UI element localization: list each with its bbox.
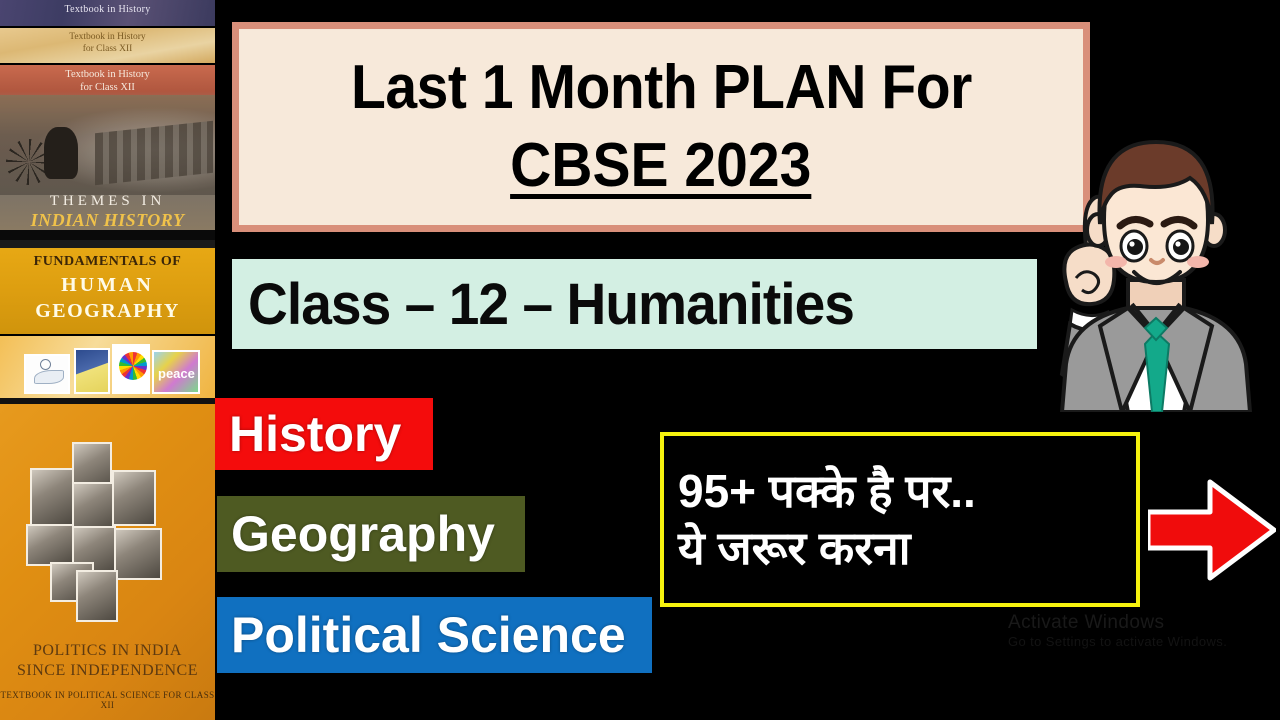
book-cover-politics-in-india: POLITICS IN INDIA SINCE INDEPENDENCE TEX…: [0, 404, 215, 720]
subject-chip-geography[interactable]: Geography: [217, 496, 525, 572]
activate-windows-watermark: Activate Windows Go to Settings to activ…: [1008, 612, 1227, 649]
subject-chip-history[interactable]: History: [215, 398, 433, 470]
callout-line-1: 95+ पक्के है पर..: [678, 463, 1136, 519]
watermark-line-2: Go to Settings to activate Windows.: [1008, 634, 1227, 649]
book-caption-line2: for Class XII: [83, 44, 133, 54]
book-dark-band: [0, 240, 215, 248]
book-spine-gap: [0, 230, 215, 240]
dove-icon: [34, 370, 64, 384]
figure-silhouette: [44, 127, 78, 179]
class-banner: Class – 12 – Humanities: [232, 259, 1037, 349]
cheek-left: [1105, 256, 1127, 268]
collage-photo: [72, 482, 114, 532]
collage-photo: [30, 468, 74, 526]
hindi-callout-box: 95+ पक्के है पर.. ये जरूर करना: [660, 432, 1140, 607]
book-title-line2: INDIAN HISTORY: [0, 210, 215, 230]
un-emblem-icon: [40, 359, 51, 370]
watermark-line-1: Activate Windows: [1008, 612, 1227, 634]
book-subtitle: TEXTBOOK IN POLITICAL SCIENCE FOR CLASS …: [0, 690, 215, 710]
title-line-2: CBSE 2023: [510, 135, 811, 197]
stamp-blue: [74, 348, 110, 394]
title-line-1: Last 1 Month PLAN For: [351, 57, 972, 119]
book-title-line3: GEOGRAPHY: [0, 300, 215, 323]
subject-label: Geography: [231, 505, 495, 563]
book-title-line2: HUMAN: [0, 274, 215, 297]
cartoon-teacher-illustration: [1032, 132, 1280, 412]
book-caption-line1: Textbook in History: [65, 69, 149, 80]
callout-line-2: ये जरूर करना: [678, 520, 1136, 576]
book-cover-themes-in-indian-history: Textbook in History for Class XII THEMES…: [0, 65, 215, 230]
subject-label: History: [229, 405, 401, 463]
book-cover-history-strip-1: Textbook in History: [0, 0, 215, 26]
red-right-arrow-icon: [1148, 474, 1276, 586]
red-arrow-container: [1148, 474, 1276, 586]
book-caption: Textbook in History for Class XII: [0, 68, 215, 94]
stamp-peace-label: peace: [158, 366, 195, 381]
thumbnail-canvas: Textbook in History Textbook in History …: [0, 0, 1280, 720]
stamp-burst: [112, 344, 150, 394]
book-caption-line2: for Class XII: [80, 82, 135, 93]
stamp-peace: peace: [152, 350, 200, 394]
photo-collage: [26, 442, 186, 622]
cheek-right: [1187, 256, 1209, 268]
book-cover-column: Textbook in History Textbook in History …: [0, 0, 215, 720]
book-title-line1: FUNDAMENTALS OF: [0, 254, 215, 270]
book-caption: Textbook in History for Class XII: [0, 31, 215, 55]
book-title-line2: SINCE INDEPENDENCE: [0, 662, 215, 680]
collage-photo: [114, 528, 162, 580]
main-title-card: Last 1 Month PLAN For CBSE 2023: [232, 22, 1090, 232]
book-caption-line1: Textbook in History: [69, 32, 145, 42]
collage-photo: [112, 470, 156, 526]
subject-label: Political Science: [231, 606, 626, 664]
collage-photo: [26, 524, 74, 566]
subject-chip-political-science[interactable]: Political Science: [217, 597, 652, 673]
book-cover-human-geography: FUNDAMENTALS OF HUMAN GEOGRAPHY: [0, 248, 215, 334]
color-burst-icon: [119, 352, 147, 380]
class-banner-label: Class – 12 – Humanities: [248, 271, 854, 338]
collage-photo: [76, 570, 118, 622]
book-cover-history-strip-2: Textbook in History for Class XII: [0, 28, 215, 63]
book-title-line1: POLITICS IN INDIA: [0, 642, 215, 660]
book-cover-peace-stamps: peace: [0, 336, 215, 398]
book-title-line1: THEMES IN: [0, 193, 215, 210]
book-caption: Textbook in History: [0, 4, 215, 15]
stamp-dove: [24, 354, 70, 394]
